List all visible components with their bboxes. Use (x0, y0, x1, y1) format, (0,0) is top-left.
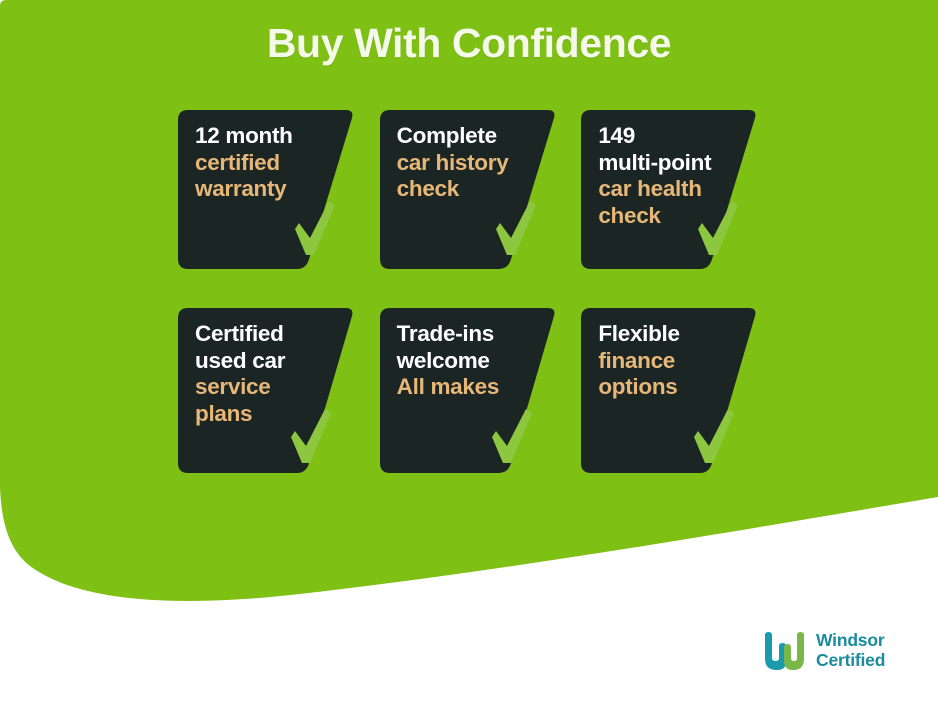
card-line-white-1: 149 (598, 123, 742, 150)
card-line-tan-1: finance (598, 348, 742, 375)
card-line-white-2: welcome (397, 348, 541, 375)
card-line-tan-2: options (598, 374, 742, 401)
card-line-white-2: multi-point (598, 150, 742, 177)
windsor-w-mark-icon (762, 628, 808, 674)
logo-wordmark: Windsor Certified (816, 631, 885, 670)
benefit-card-service-plans[interactable]: Certified used car service plans (178, 308, 355, 473)
benefit-card-trade-ins[interactable]: Trade-ins welcome All makes (380, 308, 557, 473)
card-line-white-1: 12 month (195, 123, 339, 150)
check-mark-icon (692, 407, 736, 465)
check-mark-icon (490, 407, 534, 465)
card-text: 12 month certified warranty (195, 123, 339, 203)
check-mark-icon (696, 199, 740, 257)
card-text: Flexible finance options (598, 321, 742, 401)
benefit-card-flexible-finance[interactable]: Flexible finance options (581, 308, 758, 473)
card-line-white-2: used car (195, 348, 339, 375)
card-line-tan-1: service (195, 374, 339, 401)
benefit-card-grid: 12 month certified warranty Complete car… (178, 110, 758, 473)
page-title: Buy With Confidence (0, 20, 938, 67)
benefit-card-car-history-check[interactable]: Complete car history check (380, 110, 557, 269)
logo-line-1: Windsor (816, 631, 885, 651)
check-mark-icon (289, 407, 333, 465)
card-line-tan-1: certified (195, 150, 339, 177)
card-text: Trade-ins welcome All makes (397, 321, 541, 401)
logo-line-2: Certified (816, 651, 885, 671)
card-line-tan-1: car history (397, 150, 541, 177)
card-line-white-1: Flexible (598, 321, 742, 348)
check-mark-icon (494, 199, 538, 257)
check-mark-icon (293, 199, 337, 257)
brand-logo[interactable]: Windsor Certified (762, 628, 885, 674)
benefit-card-multi-point-health-check[interactable]: 149 multi-point car health check (581, 110, 758, 269)
card-line-white-1: Certified (195, 321, 339, 348)
benefit-card-certified-warranty[interactable]: 12 month certified warranty (178, 110, 355, 269)
card-text: Complete car history check (397, 123, 541, 203)
card-line-white-1: Trade-ins (397, 321, 541, 348)
card-line-tan-1: All makes (397, 374, 541, 401)
slide-canvas: Buy With Confidence 12 month certified w… (0, 0, 938, 704)
card-line-white-1: Complete (397, 123, 541, 150)
